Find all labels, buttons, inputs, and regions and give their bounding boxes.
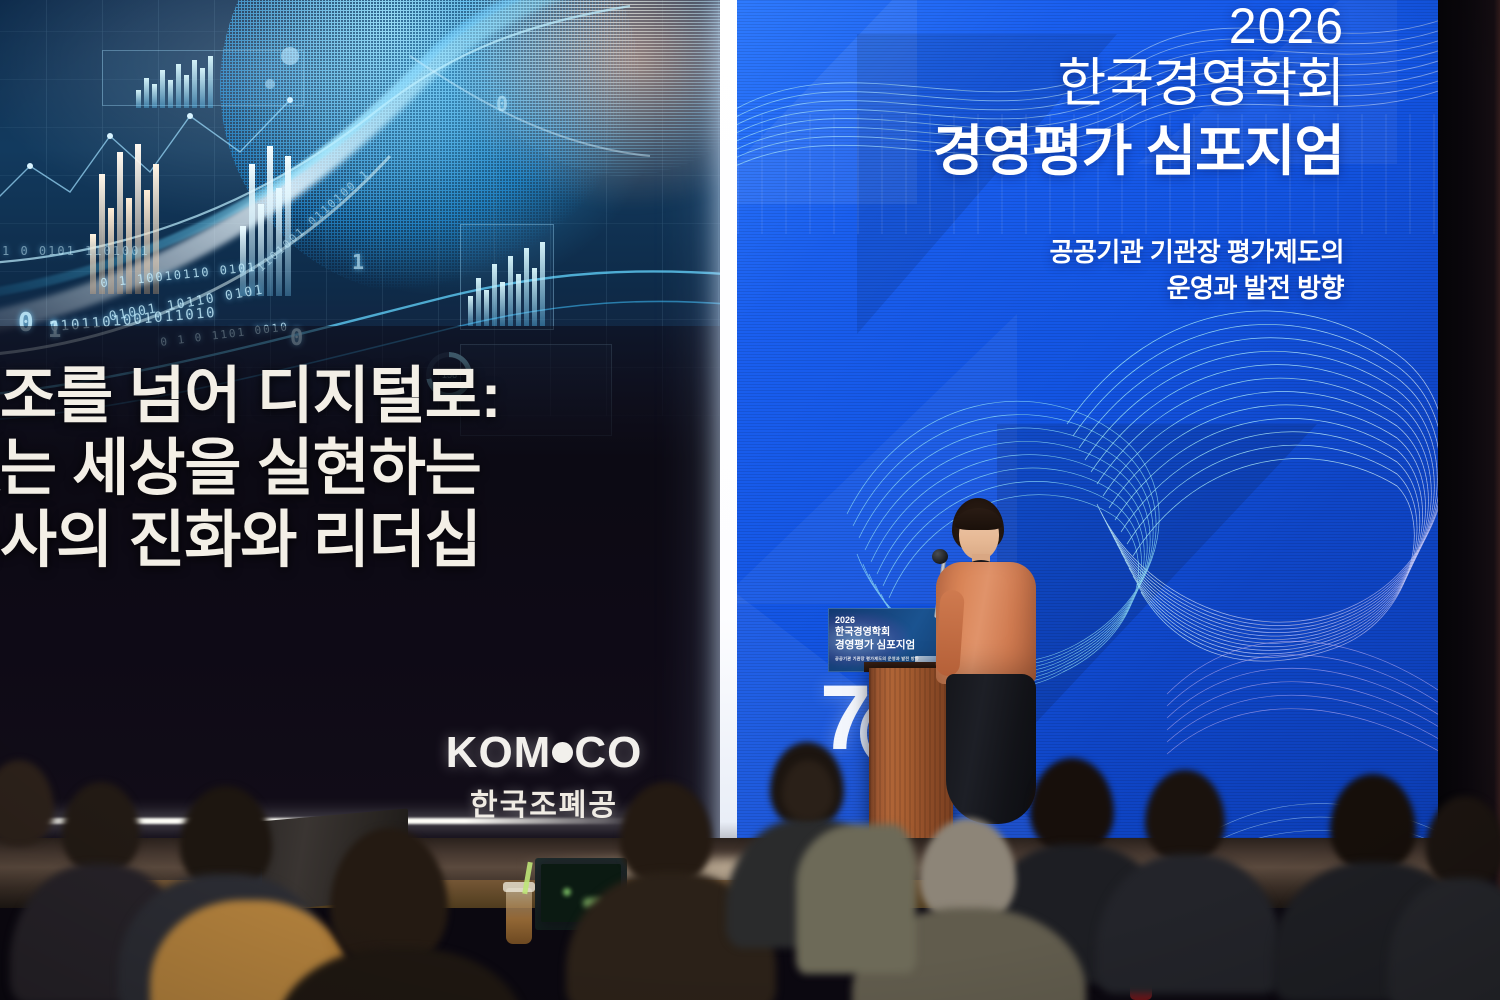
audience-head	[1426, 796, 1500, 888]
hall-side-wall	[1438, 0, 1500, 894]
banner-subtitle-line-1: 공공기관 기관장 평가제도의	[933, 234, 1344, 271]
speaker-figure	[930, 498, 1040, 848]
slide-headline: 제조를 넘어 디지털로: 없는 세상을 실현하는 공사의 진화와 리더십	[0, 361, 704, 577]
left-projection-screen: 156 01001 10110 0101 0 1 0 1101 0010 110…	[0, 0, 730, 846]
slide-headline-line-1: 제조를 넘어 디지털로:	[0, 361, 704, 433]
slide-bar-chart	[468, 242, 545, 326]
komsco-wordmark: KOMCO	[394, 728, 694, 778]
slide-headline-line-2: 없는 세상을 실현하는	[0, 433, 704, 505]
audience-head	[782, 760, 834, 820]
audience-raised-arm	[796, 824, 916, 974]
banner-year: 2026	[933, 0, 1344, 53]
drink-cup	[506, 888, 532, 944]
komsco-wordmark-post: CO	[574, 728, 642, 777]
wall-sheen	[1494, 0, 1500, 894]
laptop-screen-glow	[563, 888, 571, 896]
speaker-skirt	[946, 674, 1036, 824]
conference-photo: 156 01001 10110 0101 0 1 0 1101 0010 110…	[0, 0, 1500, 1000]
slide-bar-chart	[136, 56, 213, 108]
banner-subtitle-line-2: 운영과 발전 방향	[933, 270, 1344, 307]
banner-text-block: 2026 한국경영학회 경영평가 심포지엄 공공기관 기관장 평가제도의 운영과…	[933, 0, 1344, 307]
slide-tall-bar-chart	[240, 146, 291, 296]
komsco-wordmark-pre: KOM	[446, 728, 552, 777]
slide-headline-line-3: 공사의 진화와 리더십	[0, 505, 704, 577]
banner-title: 경영평가 심포지엄	[933, 118, 1344, 184]
cup-lid	[503, 882, 535, 892]
banner-organization: 한국경영학회	[933, 53, 1344, 116]
slide-tall-bar-chart	[90, 144, 159, 294]
komsco-dot-icon	[552, 742, 573, 763]
